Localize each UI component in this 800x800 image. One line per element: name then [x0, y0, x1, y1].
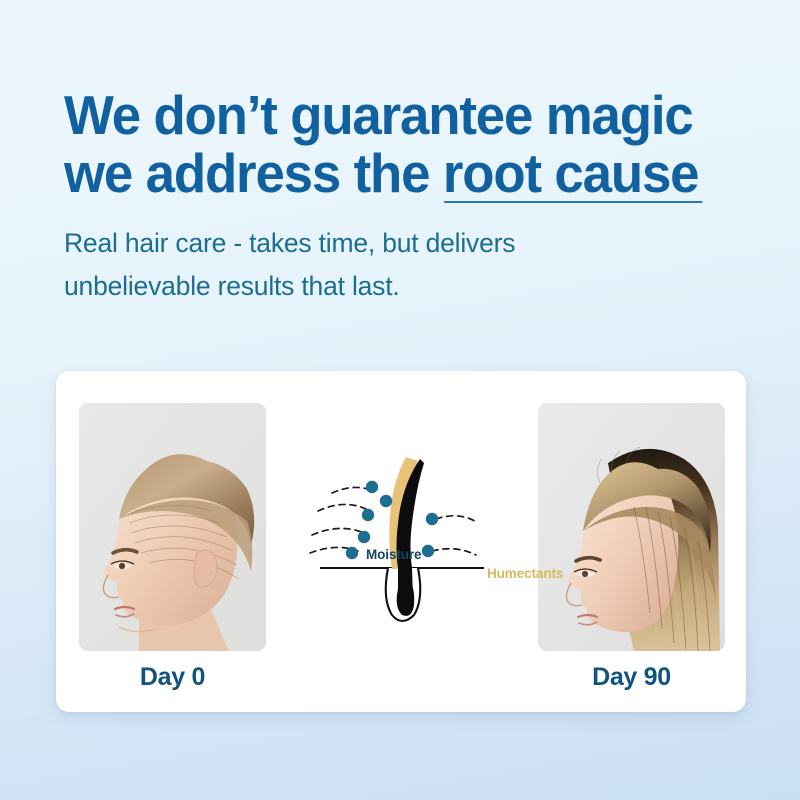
moisture-arrows-right: [432, 516, 478, 555]
humectants-label: Humectants: [487, 566, 563, 581]
moisture-droplet: [358, 531, 370, 543]
hair-bulb: [397, 585, 415, 616]
after-photo-image: [538, 403, 725, 651]
headline-line-2: we address the root cause: [64, 144, 736, 202]
subtitle-line-2: unbelievable results that last.: [64, 265, 664, 308]
headline-line-2-prefix: we address the: [64, 142, 443, 204]
before-label: Day 0: [79, 663, 266, 692]
before-after-card: Moisture Humectants Day 0 Day 90: [56, 371, 746, 712]
page-headline: We don’t guarantee magic we address the …: [64, 86, 736, 202]
moisture-droplet: [380, 495, 392, 507]
after-label: Day 90: [538, 663, 725, 692]
headline-emphasis-root-cause: root cause: [443, 144, 699, 202]
after-photo: [538, 403, 725, 651]
headline-line-1: We don’t guarantee magic: [64, 86, 736, 144]
moisture-droplet: [422, 545, 434, 557]
moisture-droplet: [362, 509, 374, 521]
subtitle-line-1: Real hair care - takes time, but deliver…: [64, 222, 664, 265]
moisture-droplet: [346, 547, 358, 559]
before-photo: [79, 403, 266, 651]
hair-follicle-diagram: Moisture Humectants: [302, 449, 502, 629]
page-subtitle: Real hair care - takes time, but deliver…: [64, 222, 664, 308]
before-photo-image: [79, 403, 266, 651]
moisture-droplet: [426, 513, 438, 525]
follicle-illustration: [302, 449, 502, 629]
moisture-label: Moisture: [366, 547, 421, 562]
moisture-droplet: [366, 481, 378, 493]
